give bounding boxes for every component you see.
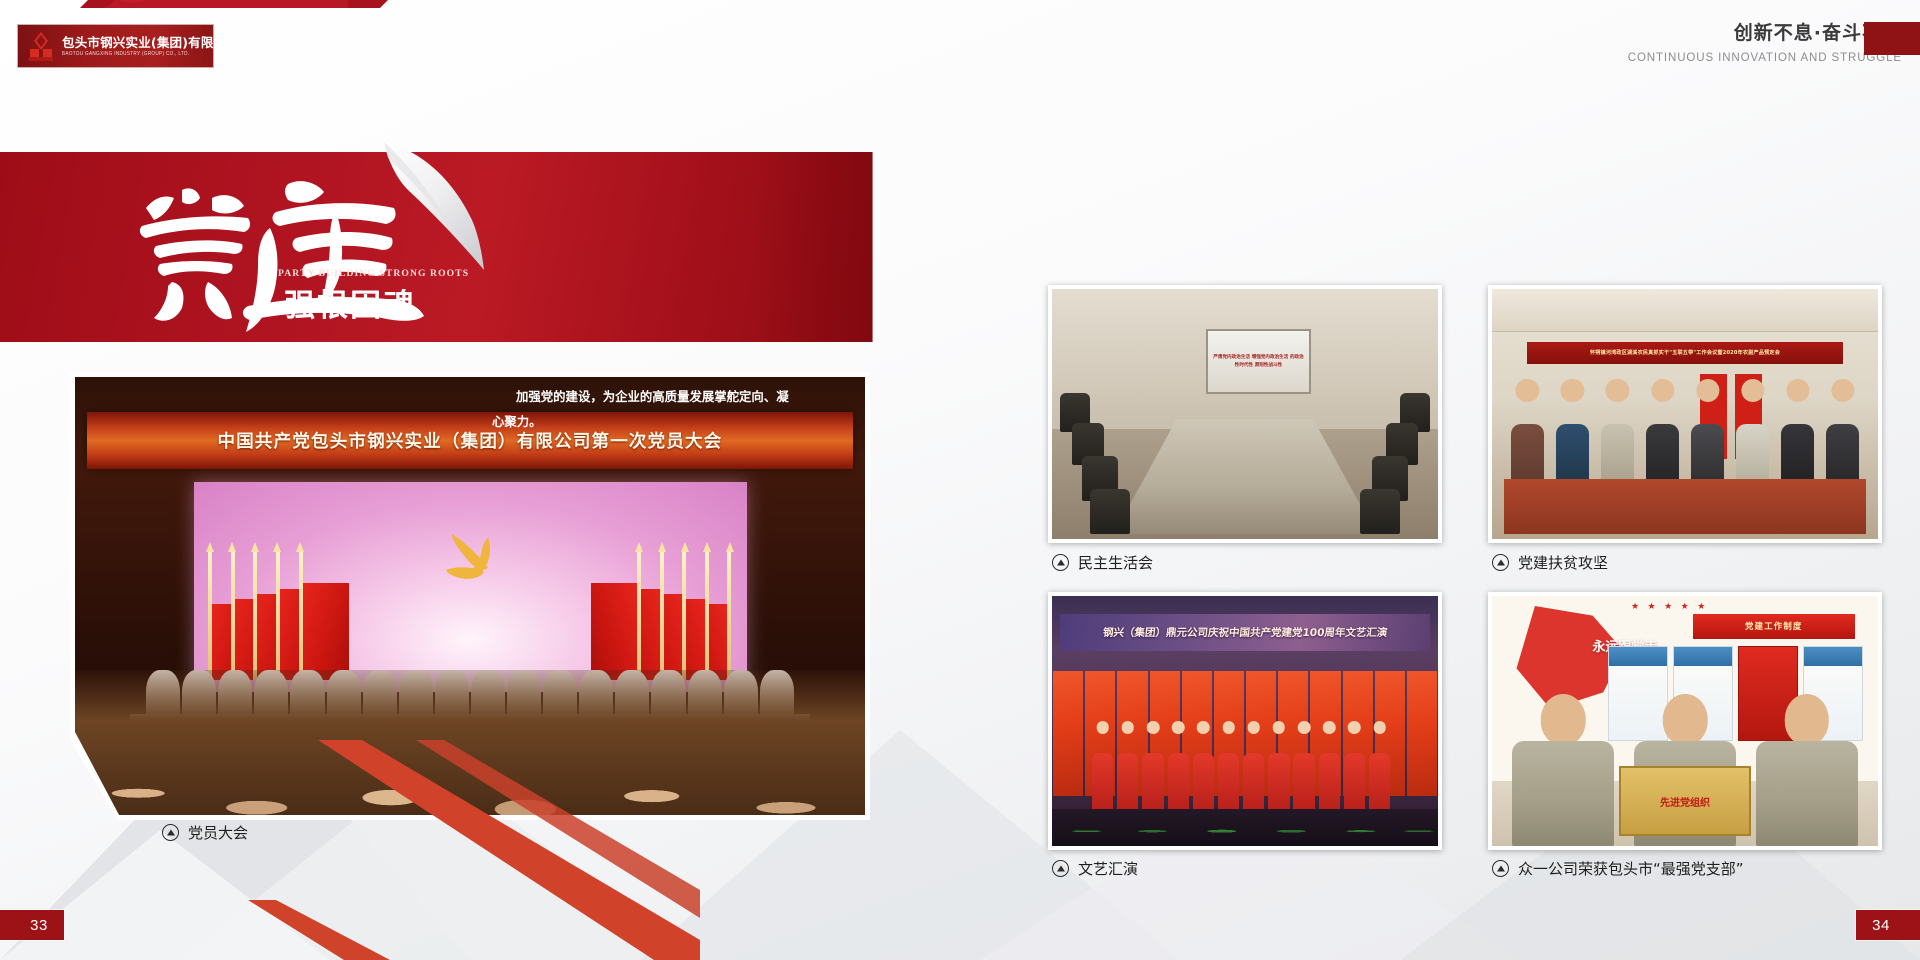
- poverty-meeting-banner: 怀朔镇河湾政区湖溪农民真抓实干"五联五带"工作会议暨2020年农副产品预定会: [1527, 342, 1844, 365]
- calligraphy-subtitle: 强根固魂: [284, 280, 416, 325]
- photo-art-performance-image: 钢兴（集团）鼎元公司庆祝中国共产党建党100周年文艺汇演: [1052, 596, 1438, 846]
- poverty-banner-text: 怀朔镇河湾政区湖溪农民真抓实干"五联五带"工作会议暨2020年农副产品预定会: [1590, 349, 1780, 356]
- meeting-projector-screen: 严肃党内政治生活 增强党内政治生活 的政治性时代性 原则性战斗性: [1206, 329, 1310, 394]
- caption-text: 党员大会: [188, 822, 248, 843]
- performance-banner-text: 钢兴（集团）鼎元公司庆祝中国共产党建党100周年文艺汇演: [1102, 625, 1388, 640]
- logo-company-name-cn: 包头市钢兴实业(集团)有限公司: [62, 36, 239, 49]
- photo-strongest-party-branch-image: ★ ★ ★ ★ ★ 永远跟党走 党建工作制度 先进党组织: [1492, 596, 1878, 846]
- party-board-title-text: 党建工作制度: [1745, 620, 1802, 632]
- caption-text: 文艺汇演: [1078, 858, 1138, 879]
- caption-strongest-party-branch: 众一公司荣获包头市“最强党支部”: [1492, 858, 1744, 879]
- header-tagline: 创新不息·奋斗不止 CONTINUOUS INNOVATION AND STRU…: [1628, 18, 1902, 64]
- caption-democratic-life-meeting: 民主生活会: [1052, 552, 1153, 573]
- tagline-en: CONTINUOUS INNOVATION AND STRUGGLE: [1628, 52, 1902, 64]
- page-header: 包头市钢兴实业(集团)有限公司 BAOTOU GANGXING INDUSTRY…: [0, 0, 1920, 96]
- party-work-board-title: 党建工作制度: [1693, 614, 1855, 639]
- photo-party-congress-image: 中国共产党包头市钢兴实业（集团）有限公司第一次党员大会: [75, 377, 865, 815]
- award-plaque: 先进党组织: [1619, 766, 1750, 836]
- triangle-bullet-icon: [1492, 860, 1509, 877]
- photo-poverty-alleviation[interactable]: 怀朔镇河湾政区湖溪农民真抓实干"五联五带"工作会议暨2020年农副产品预定会: [1488, 285, 1882, 543]
- triangle-bullet-icon: [1052, 554, 1069, 571]
- brochure-spread: 包头市钢兴实业(集团)有限公司 BAOTOU GANGXING INDUSTRY…: [0, 0, 1920, 960]
- caption-text: 民主生活会: [1078, 552, 1153, 573]
- page-number-right-text: 34: [1872, 917, 1890, 934]
- photo-poverty-alleviation-image: 怀朔镇河湾政区湖溪农民真抓实干"五联五带"工作会议暨2020年农副产品预定会: [1492, 289, 1878, 539]
- triangle-bullet-icon: [1492, 554, 1509, 571]
- photo-democratic-life-meeting[interactable]: 严肃党内政治生活 增强党内政治生活 的政治性时代性 原则性战斗性: [1048, 285, 1442, 543]
- photo-strongest-party-branch[interactable]: ★ ★ ★ ★ ★ 永远跟党走 党建工作制度 先进党组织: [1488, 592, 1882, 850]
- tagline-cn: 创新不息·奋斗不止: [1628, 18, 1902, 45]
- banner-body-text: 加强党的建设，为企业的高质量发展掌舵定向、凝心聚力。: [492, 385, 794, 435]
- photo-party-congress[interactable]: 中国共产党包头市钢兴实业（集团）有限公司第一次党员大会: [70, 372, 870, 820]
- triangle-bullet-icon: [162, 824, 179, 841]
- photo-art-performance[interactable]: 钢兴（集团）鼎元公司庆祝中国共产党建党100周年文艺汇演: [1048, 592, 1442, 850]
- photo-democratic-life-meeting-image: 严肃党内政治生活 增强党内政治生活 的政治性时代性 原则性战斗性: [1052, 289, 1438, 539]
- caption-text: 党建扶贫攻坚: [1518, 552, 1608, 573]
- caption-poverty-alleviation: 党建扶贫攻坚: [1492, 552, 1608, 573]
- caption-text: 众一公司荣获包头市“最强党支部”: [1518, 858, 1744, 879]
- triangle-bullet-icon: [1052, 860, 1069, 877]
- meeting-screen-text: 严肃党内政治生活 增强党内政治生活 的政治性时代性 原则性战斗性: [1211, 354, 1305, 370]
- performance-stage-banner: 钢兴（集团）鼎元公司庆祝中国共产党建党100周年文艺汇演: [1060, 614, 1431, 652]
- company-logo: 包头市钢兴实业(集团)有限公司 BAOTOU GANGXING INDUSTRY…: [18, 25, 213, 67]
- gangxing-diamond-logo-icon: [24, 29, 58, 63]
- plaque-text: 先进党组织: [1660, 794, 1710, 809]
- caption-art-performance: 文艺汇演: [1052, 858, 1138, 879]
- header-red-square: [1864, 22, 1920, 55]
- page-number-right: 34: [1856, 910, 1920, 940]
- calligraphy-english: PARTY BUILDING STRONG ROOTS: [278, 268, 469, 279]
- page-number-left: 33: [0, 910, 64, 940]
- logo-company-name-en: BAOTOU GANGXING INDUSTRY (GROUP) CO., LT…: [62, 51, 239, 57]
- caption-party-congress: 党员大会: [162, 822, 248, 843]
- page-number-left-text: 33: [30, 917, 48, 934]
- party-emblem-icon: [432, 528, 508, 586]
